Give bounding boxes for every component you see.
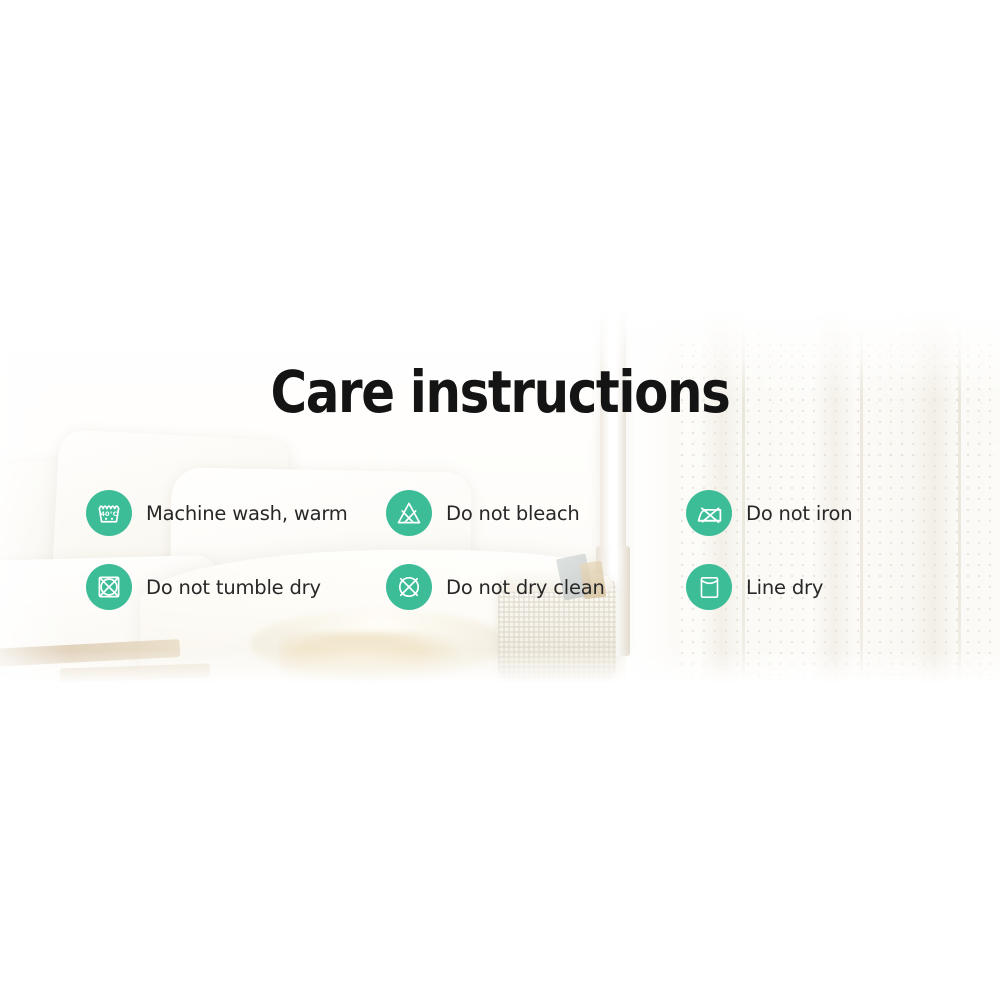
care-label-do-not-bleach: Do not bleach — [446, 502, 580, 525]
care-item-do-not-iron: Do not iron — [686, 490, 931, 536]
square-circle-crossed-icon — [86, 564, 132, 610]
care-item-machine-wash-warm: 40°C Machine wash, warm — [86, 490, 386, 536]
svg-text:40°C: 40°C — [101, 510, 118, 518]
iron-crossed-icon — [686, 490, 732, 536]
care-item-do-not-dry-clean: Do not dry clean — [386, 564, 686, 610]
care-label-line-dry: Line dry — [746, 576, 823, 599]
wash-tub-40c-icon: 40°C — [86, 490, 132, 536]
care-instructions-grid: 40°C Machine wash, warm Do not bleach — [86, 476, 931, 624]
triangle-crossed-icon — [386, 490, 432, 536]
care-instructions-banner: Care instructions 40°C Machine wash, war… — [0, 0, 1000, 1000]
care-item-do-not-bleach: Do not bleach — [386, 490, 686, 536]
banner-content: Care instructions 40°C Machine wash, war… — [0, 0, 1000, 1000]
page-title: Care instructions — [70, 363, 930, 421]
circle-crossed-icon — [386, 564, 432, 610]
care-label-do-not-dry-clean: Do not dry clean — [446, 576, 605, 599]
square-line-dry-icon — [686, 564, 732, 610]
care-label-do-not-iron: Do not iron — [746, 502, 852, 525]
care-label-do-not-tumble-dry: Do not tumble dry — [146, 576, 321, 599]
care-item-do-not-tumble-dry: Do not tumble dry — [86, 564, 386, 610]
care-label-machine-wash-warm: Machine wash, warm — [146, 502, 348, 525]
care-item-line-dry: Line dry — [686, 564, 931, 610]
